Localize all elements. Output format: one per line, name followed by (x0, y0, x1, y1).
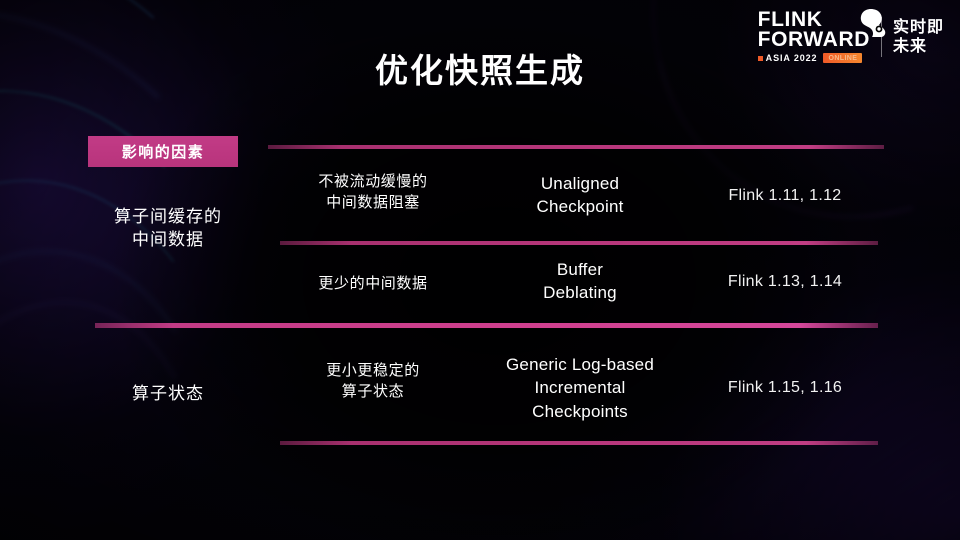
row-3-problem: 更小更稳定的 算子状态 (278, 361, 468, 402)
row-2-problem: 更少的中间数据 (278, 274, 468, 295)
section-label-2: 算子状态 (78, 382, 258, 405)
row-1-problem-line1: 不被流动缓慢的 (278, 172, 468, 193)
divider-top (268, 145, 884, 149)
row-2-solution: Buffer Deblating (480, 258, 680, 305)
row-1-problem: 不被流动缓慢的 中间数据阻塞 (278, 172, 468, 213)
row-1-problem-line2: 中间数据阻塞 (278, 193, 468, 214)
section-label-1: 算子间缓存的 中间数据 (78, 205, 258, 252)
row-1-solution-line2: Checkpoint (480, 195, 680, 218)
row-2-problem-line1: 更少的中间数据 (278, 274, 468, 295)
section-label-1-line2: 中间数据 (78, 228, 258, 251)
row-3-problem-line2: 算子状态 (278, 382, 468, 403)
slide-canvas: FLINK FORWARD ASIA 2022 ONLINE 实时即 未来 优化… (0, 0, 960, 540)
squirrel-icon (857, 7, 887, 39)
divider-section (95, 323, 878, 328)
divider-bottom (280, 441, 878, 445)
row-2-solution-line2: Deblating (480, 281, 680, 304)
row-3-problem-line1: 更小更稳定的 (278, 361, 468, 382)
row-1-solution: Unaligned Checkpoint (480, 172, 680, 219)
section-label-2-line1: 算子状态 (78, 382, 258, 405)
row-3-solution-line1: Generic Log-based (468, 353, 692, 376)
row-1-solution-line1: Unaligned (480, 172, 680, 195)
row-3-solution-line3: Checkpoints (468, 400, 692, 423)
factors-badge: 影响的因素 (88, 136, 238, 167)
row-3-solution: Generic Log-based Incremental Checkpoint… (468, 353, 692, 423)
divider-row1-row2 (280, 241, 878, 245)
row-1-version: Flink 1.11, 1.12 (690, 185, 880, 207)
section-label-1-line1: 算子间缓存的 (78, 205, 258, 228)
row-2-solution-line1: Buffer (480, 258, 680, 281)
logo-line-flink: FLINK (758, 10, 823, 30)
page-title: 优化快照生成 (0, 44, 960, 92)
row-2-version: Flink 1.13, 1.14 (690, 271, 880, 293)
row-3-solution-line2: Incremental (468, 376, 692, 399)
logo-cn-line1: 实时即 (893, 18, 944, 37)
row-3-version: Flink 1.15, 1.16 (690, 377, 880, 399)
